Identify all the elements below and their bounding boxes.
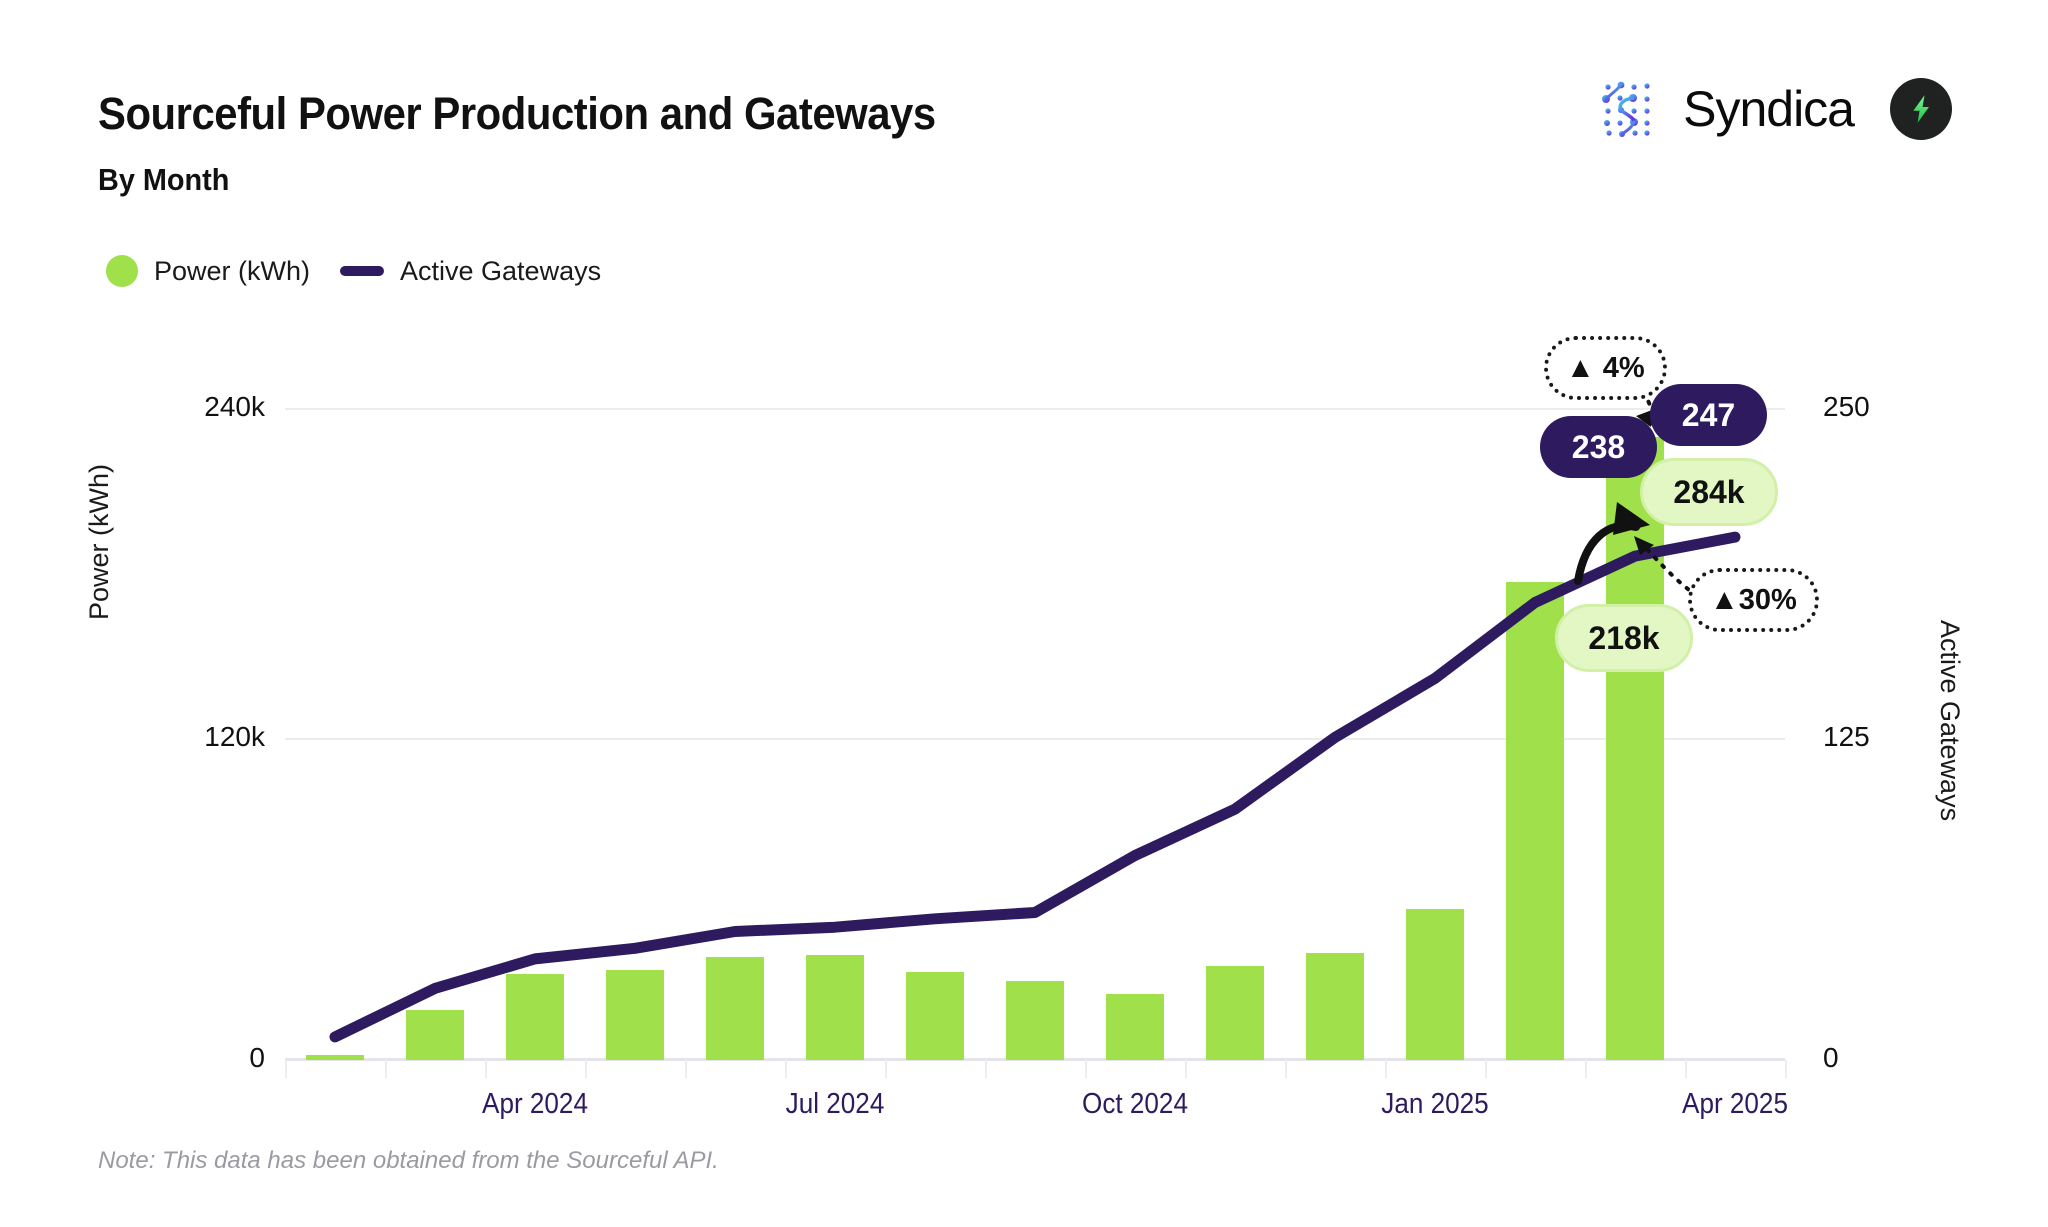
data-pill-gateways-238-label: 238: [1572, 429, 1625, 466]
annotation-callout-4pct[interactable]: ▲ 4%: [1544, 336, 1667, 400]
x-axis-label-jan-2025: Jan 2025: [1381, 1088, 1488, 1121]
x-tick: [885, 1060, 887, 1078]
bar-feb-2024[interactable]: [306, 1055, 364, 1060]
bar-nov-2024[interactable]: [1206, 966, 1264, 1060]
data-pill-gateways-247[interactable]: 247: [1650, 384, 1767, 446]
x-tick: [1585, 1060, 1587, 1078]
x-tick: [1085, 1060, 1087, 1078]
x-tick: [1285, 1060, 1287, 1078]
x-tick: [1685, 1060, 1687, 1078]
legend-item-power[interactable]: Power (kWh): [106, 255, 310, 287]
x-tick: [985, 1060, 987, 1078]
x-axis-label-jul-2024: Jul 2024: [786, 1088, 885, 1121]
x-tick: [385, 1060, 387, 1078]
y-axis-title-left: Power (kWh): [84, 464, 115, 620]
legend-item-gateways[interactable]: Active Gateways: [340, 256, 601, 287]
bar-jun-2024[interactable]: [706, 957, 764, 1060]
chart-legend: Power (kWh) Active Gateways: [106, 255, 601, 287]
x-tick: [485, 1060, 487, 1078]
bar-feb-2025[interactable]: [1506, 582, 1564, 1060]
x-tick: [1485, 1060, 1487, 1078]
brand-lockup: Syndica: [1599, 78, 1952, 140]
x-tick: [1185, 1060, 1187, 1078]
y-tick-right-0: 0: [1823, 1042, 1839, 1074]
data-pill-power-284k-label: 284k: [1673, 474, 1744, 511]
data-pill-power-218k[interactable]: 218k: [1555, 604, 1693, 672]
y-tick-left-240k: 240k: [204, 391, 265, 423]
x-axis-label-oct-2024: Oct 2024: [1082, 1088, 1188, 1121]
y-axis-title-right: Active Gateways: [1934, 620, 1965, 821]
footer-note: Note: This data has been obtained from t…: [98, 1147, 719, 1175]
y-tick-right-250: 250: [1823, 391, 1870, 423]
y-tick-left-0: 0: [249, 1042, 265, 1074]
x-axis-label-apr-2024: Apr 2024: [482, 1088, 588, 1121]
gridline-240k: [285, 408, 1785, 410]
bar-jul-2024[interactable]: [806, 955, 864, 1060]
annotation-callout-30pct-label: ▲30%: [1710, 584, 1797, 617]
x-tick: [685, 1060, 687, 1078]
data-pill-gateways-247-label: 247: [1682, 397, 1735, 434]
bar-mar-2025[interactable]: [1606, 437, 1664, 1060]
bar-sep-2024[interactable]: [1006, 981, 1064, 1060]
x-tick: [585, 1060, 587, 1078]
annotation-callout-30pct[interactable]: ▲30%: [1688, 568, 1819, 632]
page-subtitle: By Month: [98, 162, 229, 198]
bar-mar-2024[interactable]: [406, 1010, 464, 1060]
x-tick: [285, 1060, 287, 1078]
x-tick: [785, 1060, 787, 1078]
legend-label-power: Power (kWh): [154, 256, 310, 287]
legend-swatch-line-icon: [340, 266, 384, 276]
bar-jan-2025[interactable]: [1406, 909, 1464, 1060]
x-axis-label-apr-2025: Apr 2025: [1682, 1088, 1788, 1121]
syndica-dots-logo-icon: [1599, 78, 1661, 140]
data-pill-power-218k-label: 218k: [1588, 620, 1659, 657]
bar-apr-2024[interactable]: [506, 974, 564, 1060]
bar-aug-2024[interactable]: [906, 972, 964, 1060]
chart-page: Sourceful Power Production and Gateways …: [0, 0, 2048, 1227]
y-tick-right-125: 125: [1823, 721, 1870, 753]
bar-oct-2024[interactable]: [1106, 994, 1164, 1060]
annotation-callout-4pct-label: ▲ 4%: [1566, 352, 1645, 385]
bar-may-2024[interactable]: [606, 970, 664, 1060]
x-tick: [1385, 1060, 1387, 1078]
brand-wordmark: Syndica: [1683, 84, 1854, 134]
legend-swatch-circle-icon: [106, 255, 138, 287]
data-pill-power-284k[interactable]: 284k: [1640, 458, 1778, 526]
lightning-bolt-icon: [1890, 78, 1952, 140]
y-tick-left-120k: 120k: [204, 721, 265, 753]
data-pill-gateways-238[interactable]: 238: [1540, 416, 1657, 478]
bar-dec-2024[interactable]: [1306, 953, 1364, 1060]
plot-area: [285, 400, 1785, 1060]
page-title: Sourceful Power Production and Gateways: [98, 88, 936, 140]
x-tick: [1785, 1060, 1787, 1078]
legend-label-gateways: Active Gateways: [400, 256, 601, 287]
